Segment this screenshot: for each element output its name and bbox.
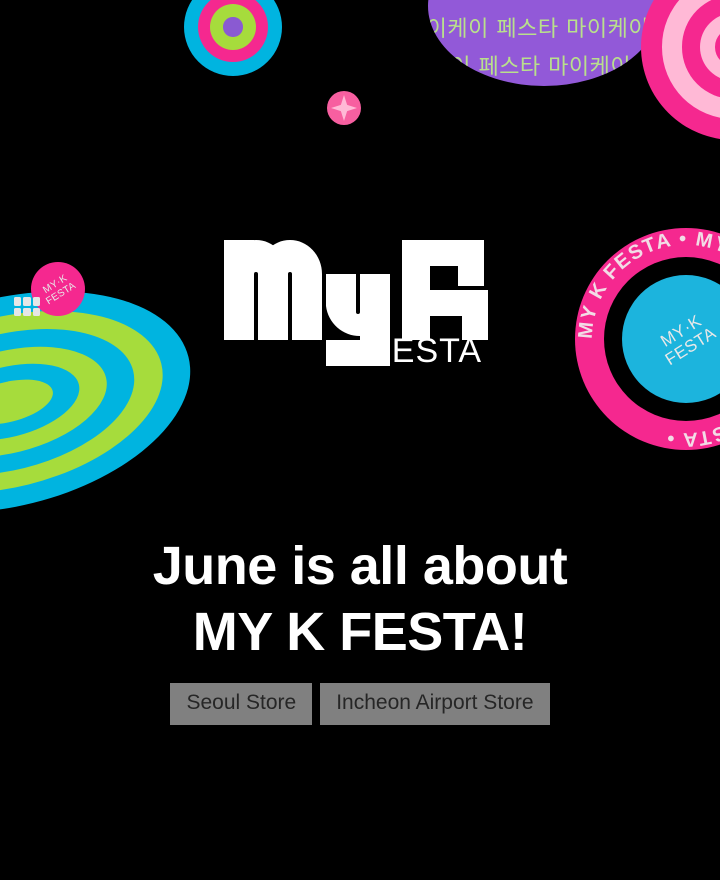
grid-cell (33, 308, 40, 317)
star-icon (331, 95, 357, 121)
seoul-store-button[interactable]: Seoul Store (170, 683, 312, 725)
page-canvas: 이 페스타 마이케이 페스타 마이케이 페 마이케이 페스타 마이케이 페스타 … (0, 0, 720, 880)
ring-purple-center (223, 17, 243, 37)
page-title: June is all about MY K FESTA! (0, 534, 720, 666)
stamp-core-label: MY·K FESTA (653, 309, 719, 369)
circular-stamp-decoration: MY K FESTA • MY K FESTA • MY K FESTA • M… (575, 228, 720, 450)
top-right-concentric-rings-decoration (641, 0, 720, 140)
grid-cell (23, 308, 30, 317)
myk-festa-logo: FESTA (222, 228, 498, 368)
ring-light-pink-1 (662, 0, 720, 119)
headline-line-2: MY K FESTA! (0, 600, 720, 666)
ring-pink-center (715, 28, 720, 65)
headline-line-1: June is all about (153, 536, 568, 596)
korean-marquee-line-1: 이 페스타 마이케이 페스타 마이케이 페 (428, 11, 660, 43)
grid-cell (14, 308, 21, 317)
grid-cell (33, 297, 40, 306)
grid-cell (23, 297, 30, 306)
svg-text:FESTA: FESTA (370, 332, 482, 368)
korean-marquee-line-2: 마이케이 페스타 마이케이 페스타 (428, 49, 660, 81)
ring-green (210, 4, 257, 51)
store-button-group: Seoul Store Incheon Airport Store (0, 683, 720, 725)
incheon-airport-store-button[interactable]: Incheon Airport Store (320, 683, 549, 725)
pink-star-blob-decoration (327, 91, 361, 125)
ring-pink-2 (682, 0, 720, 99)
broken-image-placeholder-icon (14, 297, 40, 316)
ring-light-pink-2 (700, 13, 720, 81)
grid-cell (14, 297, 21, 306)
ring-pink (198, 0, 269, 62)
purple-circle-korean-text-decoration: 이 페스타 마이케이 페스타 마이케이 페 마이케이 페스타 마이케이 페스타 (428, 0, 660, 86)
pink-badge-label: MY·K FESTA (38, 271, 77, 306)
top-left-concentric-rings-decoration (184, 0, 282, 76)
